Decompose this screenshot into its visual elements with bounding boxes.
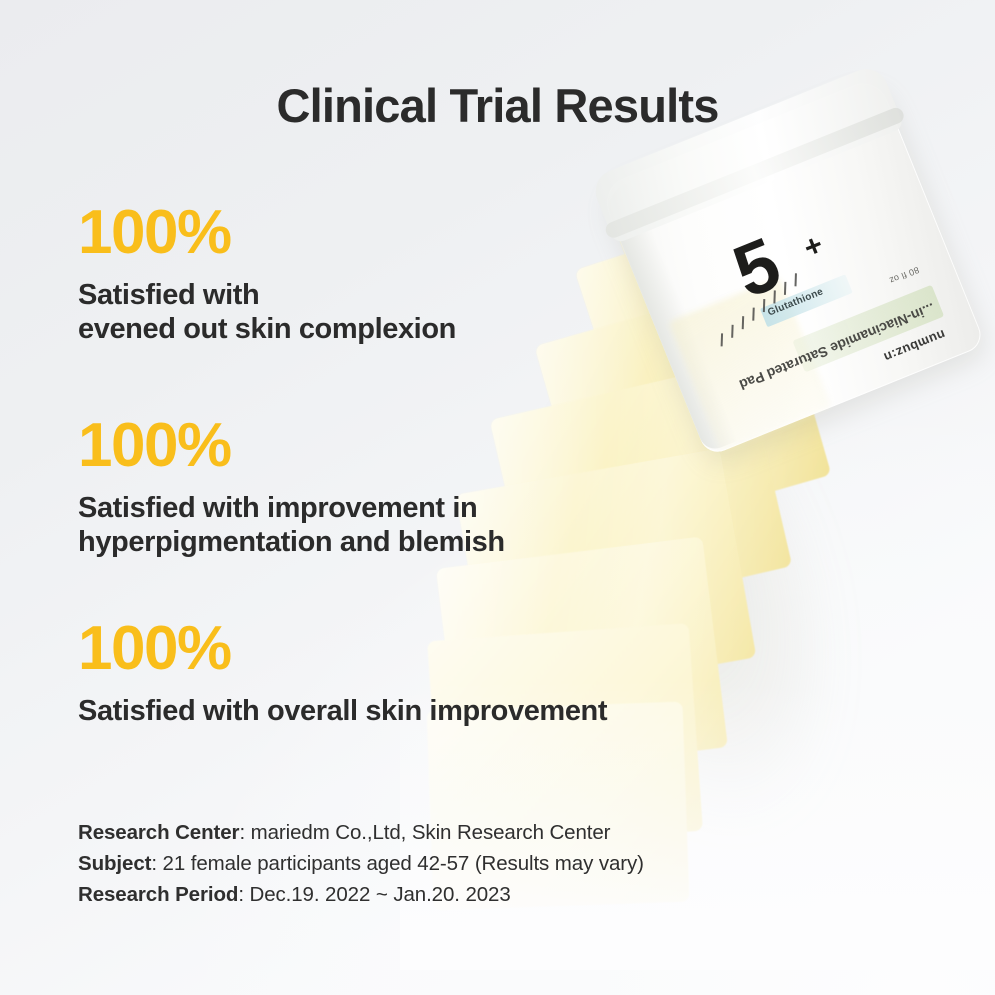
brand-name: numbuz:n: [881, 327, 947, 365]
label-green-band: [792, 285, 944, 373]
research-period-value: : Dec.19. 2022 ~ Jan.20. 2023: [238, 883, 510, 906]
infographic-canvas: numbuz:n ...in-Niacinamide Saturated Pad…: [0, 0, 995, 995]
research-period-label: Research Period: [78, 883, 238, 906]
stat-description-line: hyperpigmentation and blemish: [78, 525, 505, 559]
jar-label: numbuz:n ...in-Niacinamide Saturated Pad…: [673, 159, 956, 428]
research-center-row: Research Center: mariedm Co.,Ltd, Skin R…: [78, 818, 644, 849]
pad-sheet: [490, 361, 793, 625]
stat-block-3: 100% Satisfied with overall skin improve…: [78, 618, 607, 728]
stat-block-2: 100% Satisfied with improvement in hyper…: [78, 415, 505, 559]
pad-sheen: [490, 361, 793, 625]
jar-contents: [668, 277, 832, 452]
stat-description-line: evened out skin complexion: [78, 312, 456, 346]
stat-description: Satisfied with evened out skin complexio…: [78, 278, 456, 346]
stat-description-line: Satisfied with overall skin improvement: [78, 694, 607, 728]
product-jar: numbuz:n ...in-Niacinamide Saturated Pad…: [599, 76, 995, 494]
pad-sheen: [606, 130, 868, 380]
stat-percentage: 100%: [78, 618, 607, 680]
pad-sheet: [575, 199, 856, 460]
subject-row: Subject: 21 female participants aged 42-…: [78, 849, 644, 880]
stat-description: Satisfied with overall skin improvement: [78, 694, 607, 728]
subject-value: : 21 female participants aged 42-57 (Res…: [151, 852, 644, 875]
research-period-row: Research Period: Dec.19. 2022 ~ Jan.20. …: [78, 880, 644, 911]
stat-description-line: Satisfied with: [78, 278, 456, 312]
label-tick-marks: [707, 265, 826, 349]
research-center-label: Research Center: [78, 821, 239, 844]
pad-sheet: [606, 130, 868, 380]
jar-body: [599, 76, 986, 457]
stat-percentage: 100%: [78, 202, 456, 264]
stat-block-1: 100% Satisfied with evened out skin comp…: [78, 202, 456, 346]
research-center-value: : mariedm Co.,Ltd, Skin Research Center: [239, 821, 610, 844]
pad-sheet: [535, 278, 832, 544]
product-volume: 80 fl oz: [888, 265, 921, 286]
pad-sheen: [535, 278, 832, 544]
jar-edge-highlight: [601, 181, 737, 453]
ingredient-tab-background: [760, 274, 853, 327]
pad-sheen: [575, 199, 856, 460]
product-number: 5: [724, 227, 788, 310]
stat-description: Satisfied with improvement in hyperpigme…: [78, 491, 505, 559]
page-title: Clinical Trial Results: [0, 78, 995, 133]
stat-percentage: 100%: [78, 415, 505, 477]
ingredient-name: Glutathione: [766, 286, 825, 318]
research-details: Research Center: mariedm Co.,Ltd, Skin R…: [78, 818, 644, 910]
product-description: ...in-Niacinamide Saturated Pad: [736, 299, 937, 394]
stat-description-line: Satisfied with improvement in: [78, 491, 505, 525]
product-plus-sign: +: [799, 228, 828, 266]
subject-label: Subject: [78, 852, 151, 875]
